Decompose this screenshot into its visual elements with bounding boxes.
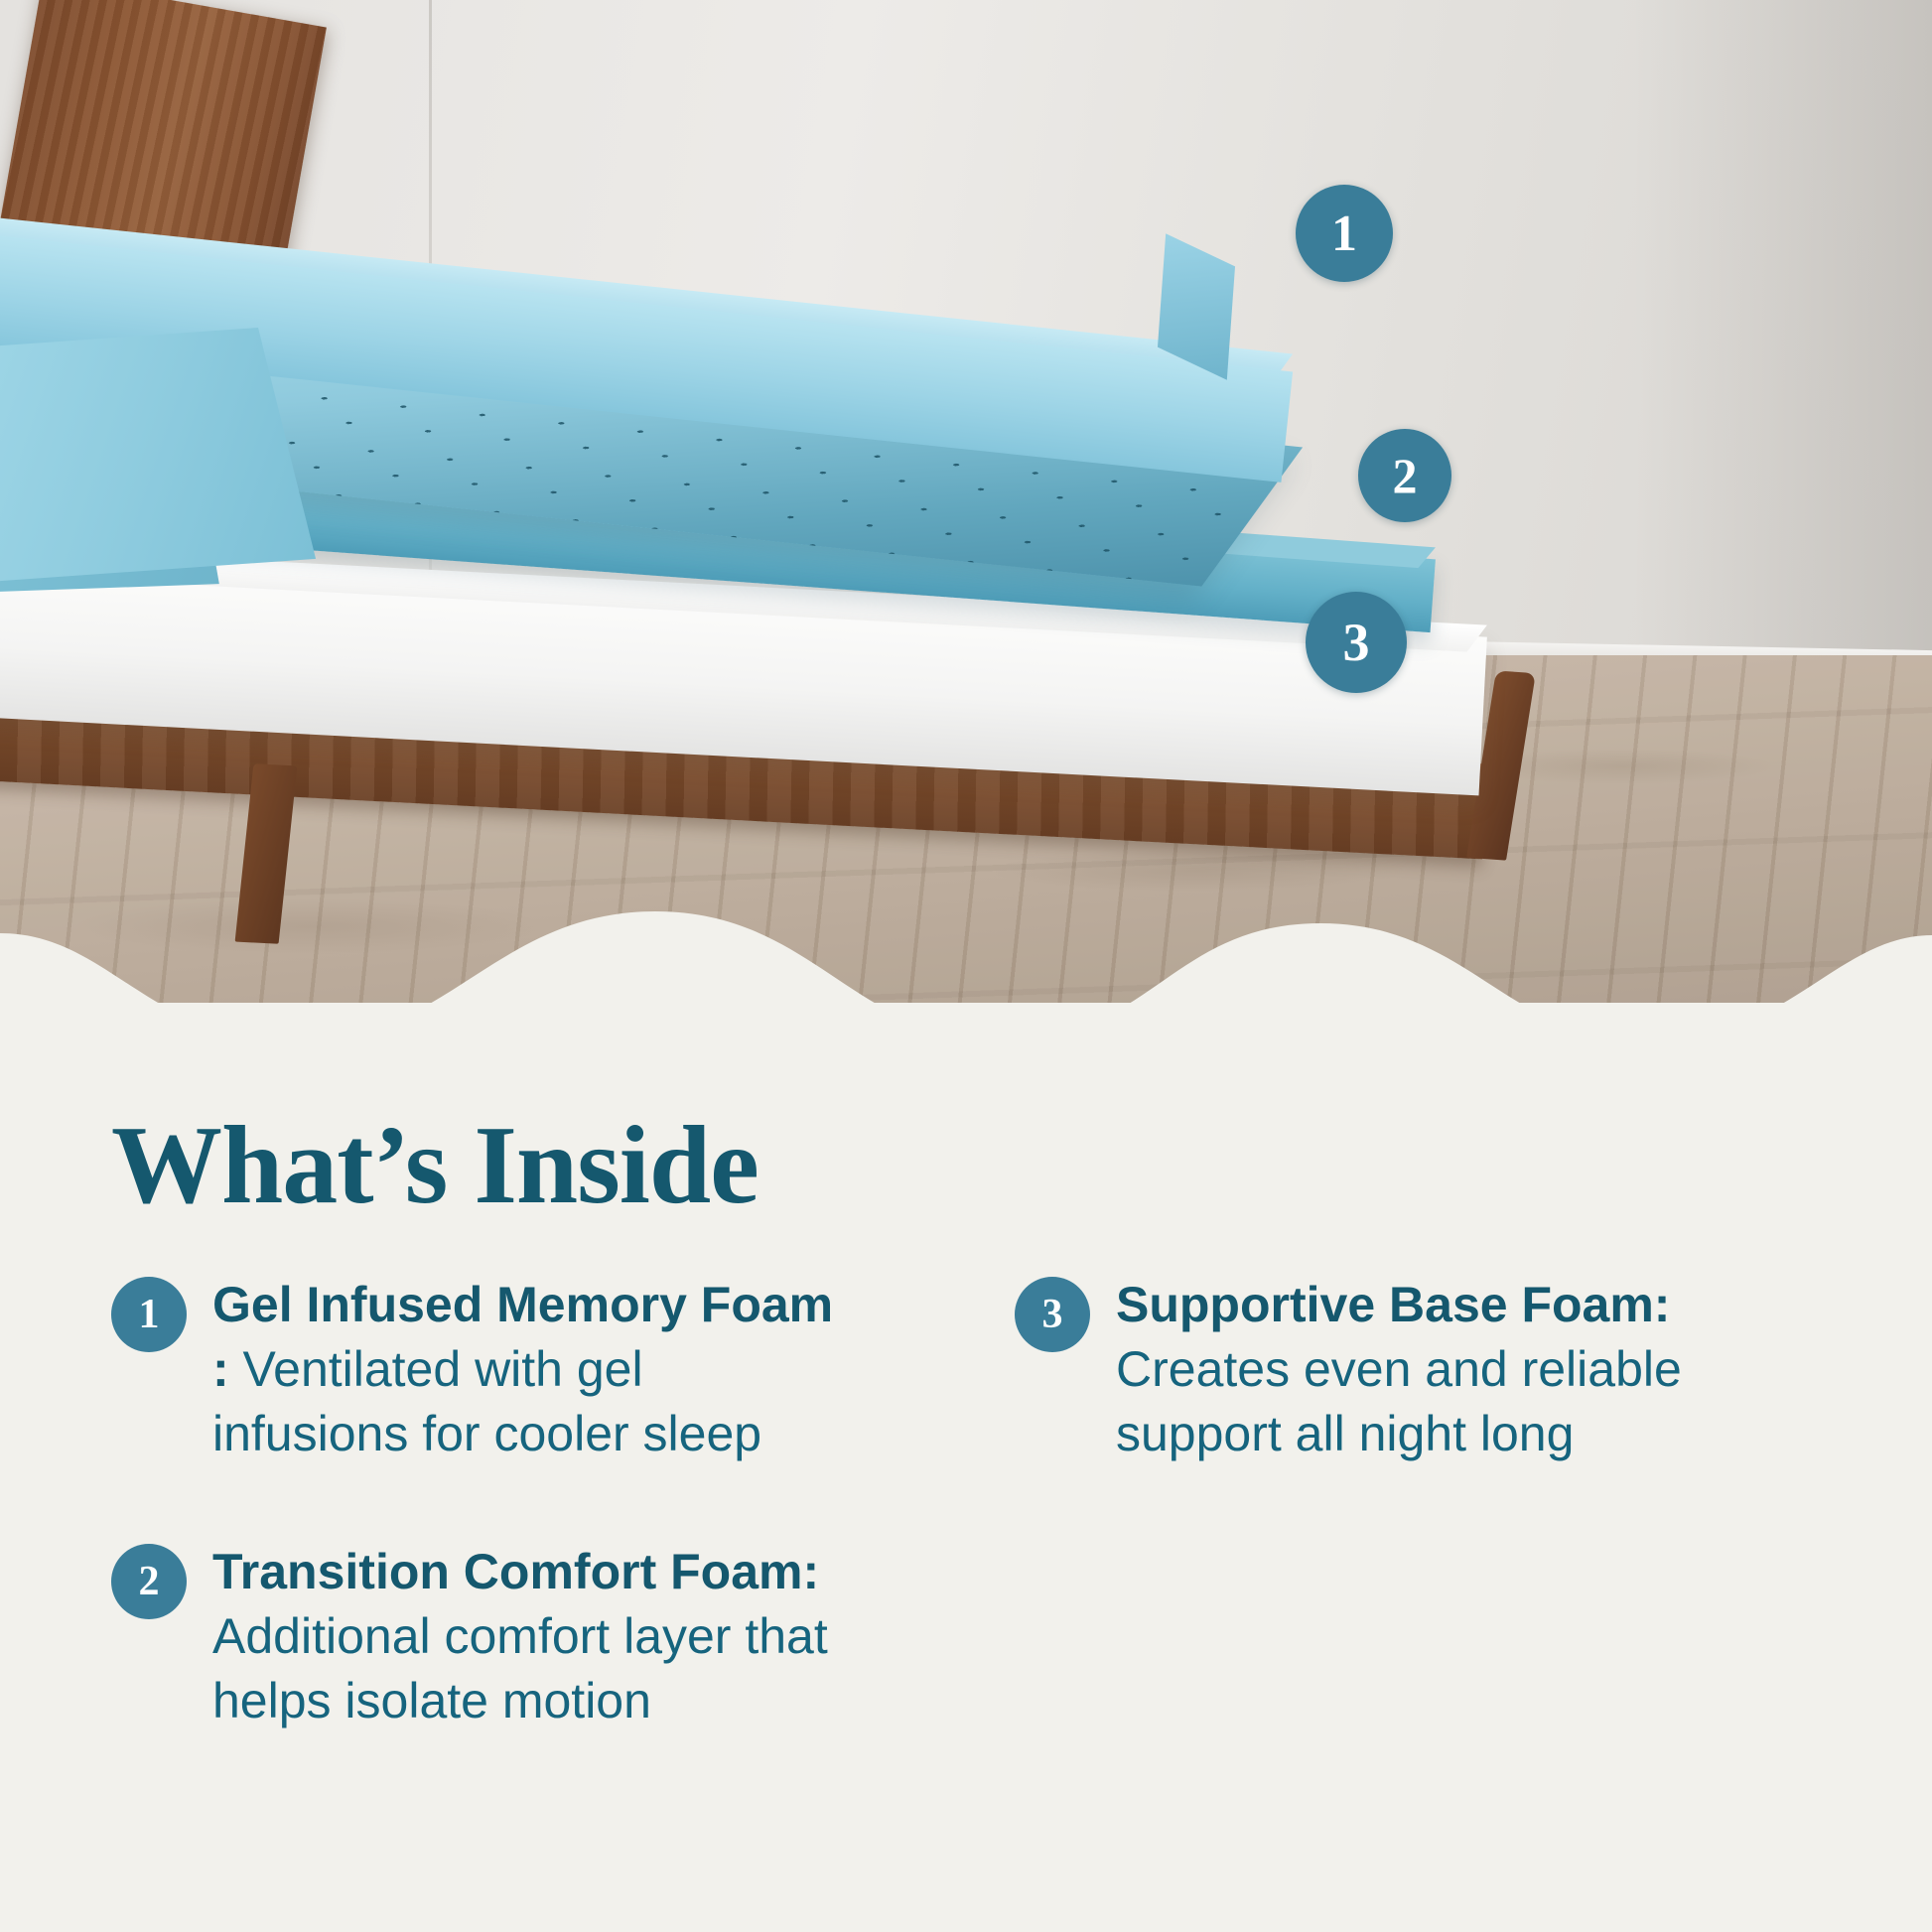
legend-panel: What’s Inside 1 Gel Infused Memory Foam … [0, 1033, 1932, 1932]
wall-shadow [1634, 0, 1932, 695]
legend-badge-3: 3 [1015, 1277, 1090, 1352]
legend-badge-1: 1 [111, 1277, 187, 1352]
infographic-canvas: 1 2 3 What’s Inside 1 Gel Infused Memory… [0, 0, 1932, 1932]
page-title: What’s Inside [111, 1102, 759, 1230]
list-item: 3 Supportive Base Foam: Creates even and… [1015, 1273, 1859, 1466]
legend-badge-2: 2 [111, 1544, 187, 1619]
legend-column-left: 1 Gel Infused Memory Foam : Ventilated w… [111, 1273, 955, 1733]
callout-badge-3: 3 [1306, 592, 1407, 693]
legend-list: 1 Gel Infused Memory Foam : Ventilated w… [111, 1273, 1859, 1733]
list-item: 2 Transition Comfort Foam: Additional co… [111, 1540, 955, 1733]
callout-badge-1: 1 [1296, 185, 1393, 282]
legend-description-1: Ventilated with gel infusions for cooler… [212, 1341, 761, 1461]
legend-column-right: 3 Supportive Base Foam: Creates even and… [1015, 1273, 1859, 1733]
legend-title-2: Transition Comfort Foam: [212, 1544, 819, 1599]
legend-text-2: Transition Comfort Foam: Additional comf… [212, 1540, 848, 1733]
legend-text-3: Supportive Base Foam: Creates even and r… [1116, 1273, 1751, 1466]
list-item: 1 Gel Infused Memory Foam : Ventilated w… [111, 1273, 955, 1466]
legend-title-3: Supportive Base Foam: [1116, 1277, 1670, 1332]
wave-divider [0, 894, 1932, 1112]
product-photo: 1 2 3 [0, 0, 1932, 1003]
legend-description-2: Additional comfort layer that helps isol… [212, 1608, 828, 1728]
callout-badge-2: 2 [1358, 429, 1451, 522]
legend-text-1: Gel Infused Memory Foam : Ventilated wit… [212, 1273, 848, 1466]
legend-description-3: Creates even and reliable support all ni… [1116, 1341, 1682, 1461]
